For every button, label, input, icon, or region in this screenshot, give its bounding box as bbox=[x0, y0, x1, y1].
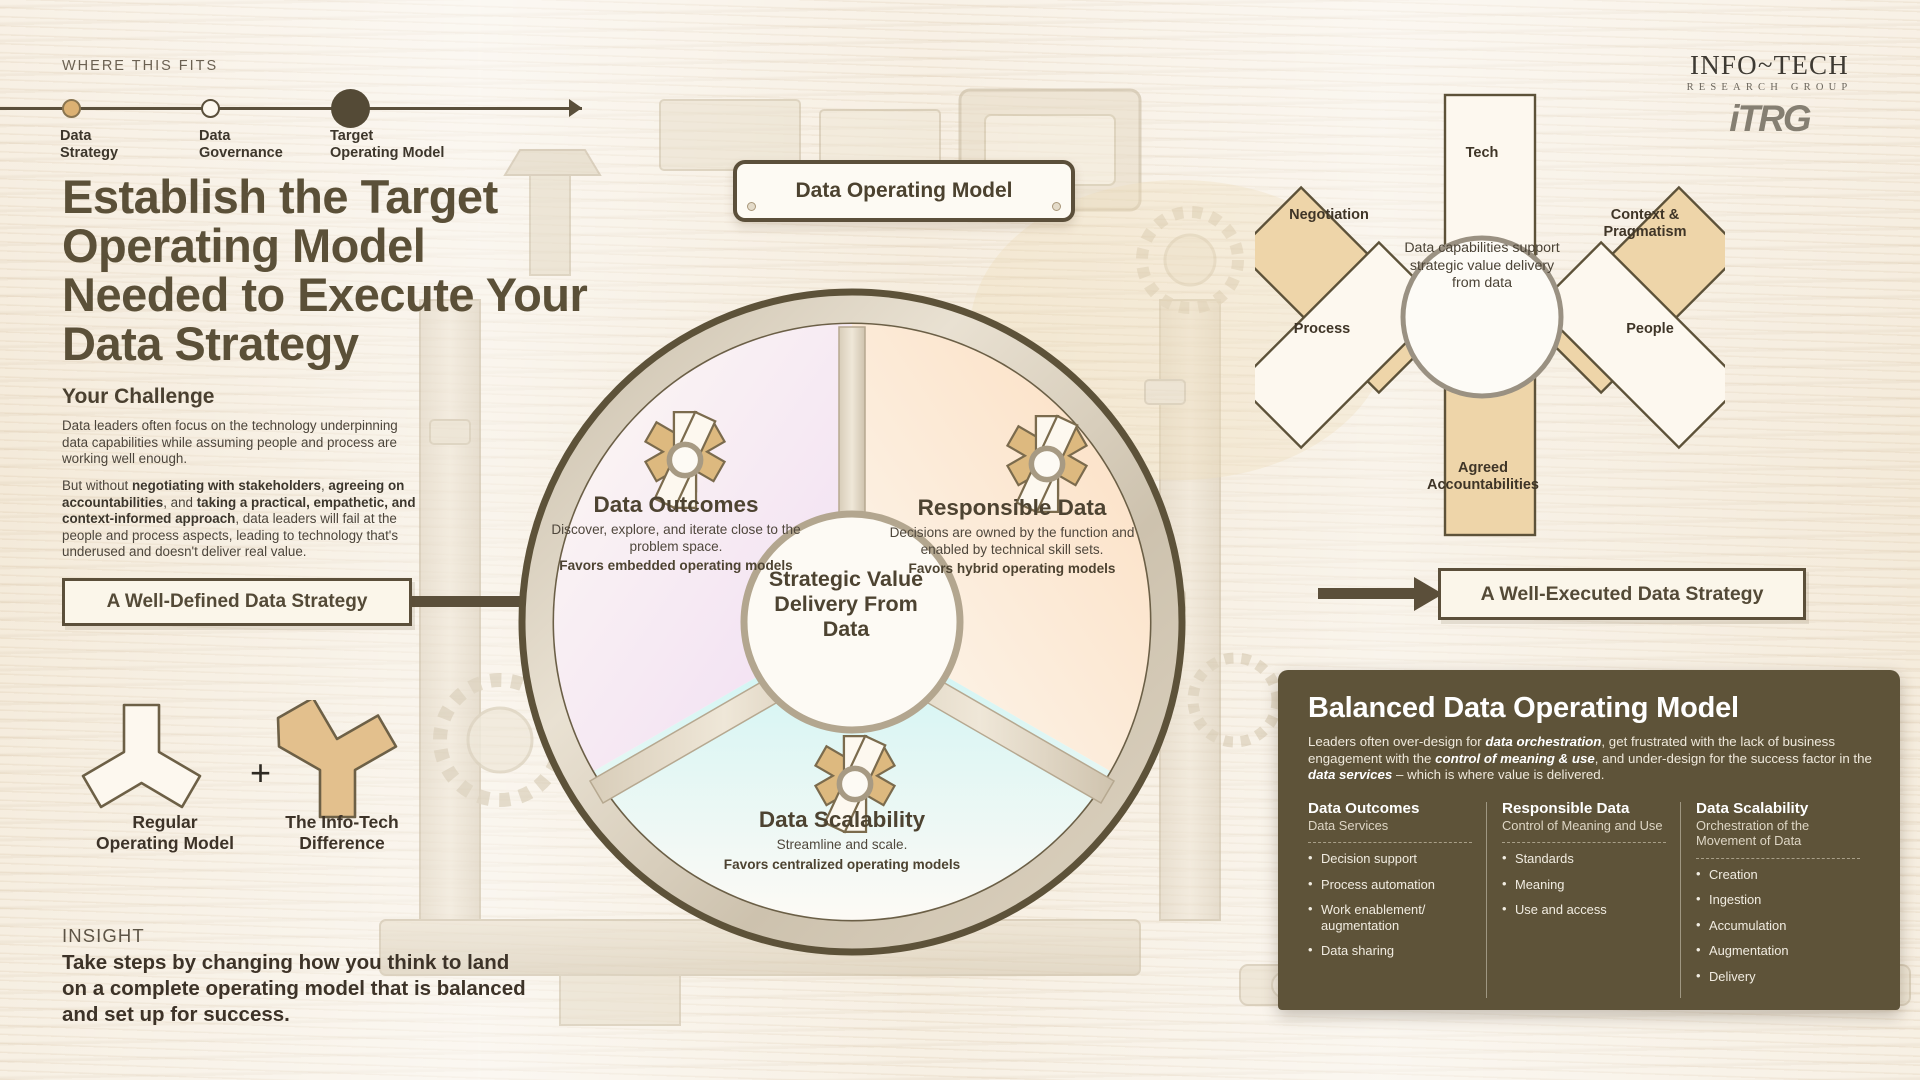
screw-left-icon bbox=[747, 202, 756, 211]
sign-title: Data Operating Model bbox=[795, 179, 1012, 203]
infographic-canvas: WHERE THIS FITS Data Strategy Data Gover… bbox=[0, 0, 1920, 1080]
balanced-model-panel: Balanced Data Operating Model Leaders of… bbox=[1278, 670, 1900, 1010]
panel-list-item: Ingestion bbox=[1696, 892, 1860, 908]
data-operating-model-sign: Data Operating Model bbox=[733, 160, 1075, 222]
panel-list-item: Process automation bbox=[1308, 877, 1472, 893]
segment-title: Data Scalability bbox=[687, 807, 997, 833]
segment-description: Decisions are owned by the function and … bbox=[887, 525, 1137, 558]
panel-intro: Leaders often over-design for data orche… bbox=[1308, 734, 1874, 784]
wheel-hub-text: Strategic Value Delivery From Data bbox=[751, 567, 941, 642]
callout-well-defined-strategy: A Well-Defined Data Strategy bbox=[62, 578, 412, 626]
panel-list-item: Standards bbox=[1502, 851, 1666, 867]
progress-dot-data-strategy bbox=[62, 99, 81, 118]
panel-column-data-outcomes: Data Outcomes Data Services Decision sup… bbox=[1308, 800, 1486, 995]
divider bbox=[1308, 842, 1472, 843]
where-this-fits: WHERE THIS FITS Data Strategy Data Gover… bbox=[62, 58, 582, 168]
logo-tagline: RESEARCH GROUP bbox=[1667, 82, 1872, 93]
progress-track bbox=[62, 86, 582, 130]
panel-list-item: Work enablement/ augmentation bbox=[1308, 902, 1472, 933]
callout-well-executed-strategy: A Well-Executed Data Strategy bbox=[1438, 568, 1806, 620]
wheel-segment-data-outcomes: Data Outcomes Discover, explore, and ite… bbox=[551, 492, 801, 575]
panel-list-item: Creation bbox=[1696, 867, 1860, 883]
label-infotech-difference: The Info-Tech Difference bbox=[267, 812, 417, 854]
panel-column-data-scalability: Data Scalability Orchestration of the Mo… bbox=[1680, 800, 1874, 995]
panel-columns: Data Outcomes Data Services Decision sup… bbox=[1308, 800, 1874, 995]
panel-column-heading: Data Outcomes bbox=[1308, 800, 1472, 817]
progress-line bbox=[0, 107, 582, 110]
panel-list-item: Accumulation bbox=[1696, 918, 1860, 934]
progress-arrow-icon bbox=[569, 99, 582, 117]
progress-label-data-strategy: Data Strategy bbox=[60, 128, 118, 161]
where-this-fits-label: WHERE THIS FITS bbox=[62, 58, 582, 74]
petal-label-context-pragmatism: Context & Pragmatism bbox=[1585, 207, 1705, 241]
plus-icon: + bbox=[250, 752, 271, 794]
operating-model-comparison: + Regular Operating Model The Info-Tech … bbox=[62, 700, 462, 890]
panel-list-item: Data sharing bbox=[1308, 943, 1472, 959]
brand-logo: INFO~TECH RESEARCH GROUP iTRG bbox=[1667, 50, 1872, 140]
arrow-right-bar bbox=[1318, 588, 1418, 599]
wheel-segment-data-scalability: Data Scalability Streamline and scale. F… bbox=[687, 807, 997, 873]
insight-label: INSIGHT bbox=[62, 925, 145, 947]
panel-column-subheading: Orchestration of the Movement of Data bbox=[1696, 818, 1860, 849]
panel-list-item: Use and access bbox=[1502, 902, 1666, 918]
regular-model-y-icon bbox=[83, 705, 200, 807]
progress-label-target-operating-model: Target Operating Model bbox=[330, 128, 444, 161]
panel-column-subheading: Control of Meaning and Use bbox=[1502, 818, 1666, 834]
insight-text: Take steps by changing how you think to … bbox=[62, 950, 532, 1028]
logo-mark-itrg: iTRG bbox=[1667, 98, 1872, 140]
progress-labels: Data Strategy Data Governance Target Ope… bbox=[62, 128, 582, 168]
progress-dot-data-governance bbox=[201, 99, 220, 118]
logo-wordmark: INFO~TECH bbox=[1667, 50, 1872, 81]
segment-title: Data Outcomes bbox=[551, 492, 801, 518]
panel-list-item: Decision support bbox=[1308, 851, 1472, 867]
petal-label-tech: Tech bbox=[1427, 145, 1537, 162]
divider bbox=[1502, 842, 1666, 843]
challenge-heading: Your Challenge bbox=[62, 385, 214, 409]
segment-title: Responsible Data bbox=[887, 495, 1137, 521]
petal-label-people: People bbox=[1595, 321, 1705, 338]
screw-right-icon bbox=[1052, 202, 1061, 211]
panel-column-responsible-data: Responsible Data Control of Meaning and … bbox=[1486, 800, 1680, 995]
panel-list-item: Meaning bbox=[1502, 877, 1666, 893]
column-divider bbox=[1486, 802, 1487, 999]
petal-core-text: Data capabilities support strategic valu… bbox=[1397, 240, 1567, 293]
challenge-paragraph-1: Data leaders often focus on the technolo… bbox=[62, 418, 427, 468]
progress-label-data-governance: Data Governance bbox=[199, 128, 283, 161]
capability-petal-diagram: Tech Context & Pragmatism People Agreed … bbox=[1255, 85, 1725, 545]
panel-column-subheading: Data Services bbox=[1308, 818, 1472, 834]
panel-list-item: Augmentation bbox=[1696, 943, 1860, 959]
progress-dot-target-operating-model bbox=[331, 89, 370, 128]
petal-label-negotiation: Negotiation bbox=[1269, 207, 1389, 224]
column-divider bbox=[1680, 802, 1681, 999]
panel-column-heading: Responsible Data bbox=[1502, 800, 1666, 817]
wheel-segment-responsible-data: Responsible Data Decisions are owned by … bbox=[887, 495, 1137, 578]
data-operating-model-wheel: Data Outcomes Discover, explore, and ite… bbox=[487, 232, 1302, 1022]
panel-list-item: Delivery bbox=[1696, 969, 1860, 985]
divider bbox=[1696, 858, 1860, 859]
panel-title: Balanced Data Operating Model bbox=[1308, 692, 1874, 725]
segment-description: Discover, explore, and iterate close to … bbox=[551, 522, 801, 555]
challenge-paragraph-2: But without negotiating with stakeholder… bbox=[62, 478, 432, 561]
segment-favors: Favors centralized operating models bbox=[687, 857, 997, 874]
label-regular-operating-model: Regular Operating Model bbox=[90, 812, 240, 854]
petal-label-process: Process bbox=[1267, 321, 1377, 338]
panel-column-heading: Data Scalability bbox=[1696, 800, 1860, 817]
infotech-difference-y-icon bbox=[278, 700, 396, 817]
segment-description: Streamline and scale. bbox=[687, 837, 997, 854]
petal-label-agreed-accountabilities: Agreed Accountabilities bbox=[1423, 460, 1543, 494]
